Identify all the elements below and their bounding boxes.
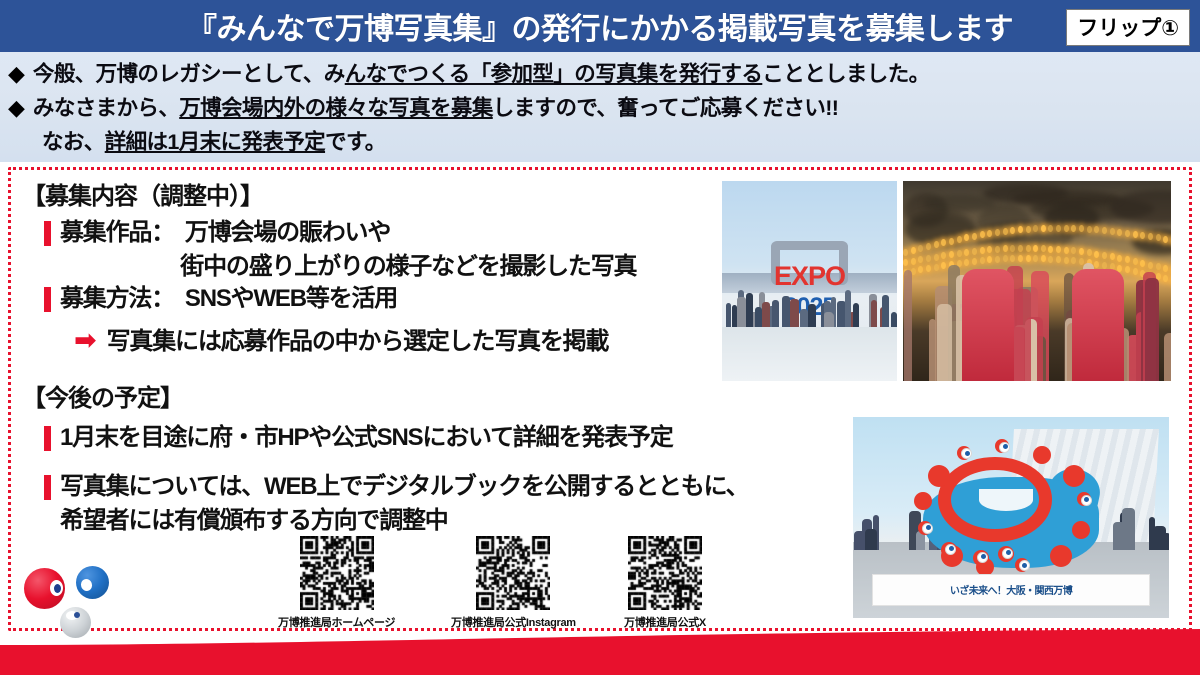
- seg: 今般、万博のレガシーとして、み: [33, 62, 345, 86]
- subtitle-line-3: なお、詳細は1月末に発表予定です。: [8, 126, 1188, 158]
- diamond-bullet-icon: ◆: [8, 58, 25, 89]
- recruit-item-works: 募集作品： 万博会場の賑わいや 街中の盛り上がりの様子などを撮影した写真: [44, 216, 636, 284]
- schedule-item-2-label: 写真集については、WEB上でデジタルブックを公開するとともに、 希望者には有償頒…: [60, 470, 748, 538]
- seg-underlined: んなでつくる「参加型」の写真集を発行する: [345, 62, 763, 86]
- diamond-bullet-icon: ◆: [8, 92, 25, 123]
- qr-block-homepage[interactable]: 万博推進局ホームページ: [278, 536, 395, 630]
- photo-ground: [722, 327, 897, 381]
- section-heading-recruit: 【募集内容（調整中）】: [22, 176, 263, 211]
- schedule-item-2: 写真集については、WEB上でデジタルブックを公開するとともに、 希望者には有償頒…: [44, 470, 748, 538]
- subtitle-line-1: ◆ 今般、万博のレガシーとして、みんなでつくる「参加型」の写真集を発行することと…: [8, 58, 1188, 90]
- subtitle-text-2: みなさまから、万博会場内外の様々な写真を募集しますので、奮ってご応募ください!!: [33, 92, 838, 124]
- qr-label-x: 万博推進局公式X: [624, 614, 706, 630]
- seg: みなさまから、: [33, 96, 179, 120]
- red-bar-marker-icon: [44, 426, 51, 451]
- seg: こととしました。: [762, 62, 929, 86]
- subtitle-text-1: 今般、万博のレガシーとして、みんなでつくる「参加型」の写真集を発行することとしま…: [33, 58, 930, 90]
- page-title: 『みんなで万博写真集』の発行にかかる掲載写真を募集します: [187, 4, 1013, 48]
- flip-badge: フリップ①: [1066, 9, 1190, 46]
- subtitle-band: ◆ 今般、万博のレガシーとして、みんなでつくる「参加型」の写真集を発行することと…: [0, 52, 1200, 162]
- red-bar-marker-icon: [44, 221, 51, 246]
- subtitle-line-2: ◆ みなさまから、万博会場内外の様々な写真を募集しますので、奮ってご応募ください…: [8, 92, 1188, 124]
- statue-red-ring: [938, 457, 1052, 541]
- recruit-arrow-note-label: 写真集には応募作品の中から選定した写真を掲載: [107, 325, 609, 359]
- schedule-item-1-label: 1月末を目途に府・市HPや公式SNSにおいて詳細を発表予定: [60, 421, 673, 455]
- qr-block-x[interactable]: 万博推進局公式X: [624, 536, 706, 630]
- qr-label-homepage: 万博推進局ホームページ: [278, 614, 395, 630]
- schedule-item-1: 1月末を目途に府・市HPや公式SNSにおいて詳細を発表予定: [44, 421, 673, 455]
- section-heading-schedule: 【今後の予定】: [22, 378, 183, 413]
- red-bar-marker-icon: [44, 475, 51, 500]
- qr-code-image[interactable]: [628, 536, 702, 610]
- seg: なお、: [42, 130, 105, 154]
- photo-festival-dusk: [903, 181, 1171, 381]
- statue-banner: いざ未来へ！大阪・関西万博: [872, 574, 1150, 606]
- red-band-shape: [0, 629, 1200, 675]
- photo-expo-word: EXPO: [748, 261, 871, 292]
- recruit-item-works-label: 募集作品： 万博会場の賑わいや 街中の盛り上がりの様子などを撮影した写真: [60, 216, 636, 284]
- red-bar-marker-icon: [44, 287, 51, 312]
- recruit-arrow-note: ➡ 写真集には応募作品の中から選定した写真を掲載: [74, 325, 608, 359]
- bottom-red-band: [0, 629, 1200, 675]
- recruit-item-method: 募集方法： SNSやWEB等を活用: [44, 282, 397, 316]
- seg-underlined: 万博会場内外の様々な写真を募集: [179, 96, 493, 120]
- right-arrow-icon: ➡: [74, 325, 97, 355]
- seg: です。: [325, 130, 386, 154]
- slide-header: 『みんなで万博写真集』の発行にかかる掲載写真を募集します フリップ①: [0, 0, 1200, 52]
- qr-label-instagram: 万博推進局公式Instagram: [451, 614, 576, 630]
- seg-underlined: 詳細は1月末に発表予定: [105, 130, 325, 154]
- blue-ball-icon: [76, 566, 109, 599]
- red-ball-icon: [24, 568, 65, 609]
- photo-crowd: [722, 289, 897, 329]
- qr-code-image[interactable]: [300, 536, 374, 610]
- photo-expo-monument: EXPO 2025: [722, 181, 897, 381]
- subtitle-text-3: なお、詳細は1月末に発表予定です。: [42, 126, 386, 158]
- recruit-item-method-label: 募集方法： SNSやWEB等を活用: [60, 282, 397, 316]
- qr-block-instagram[interactable]: 万博推進局公式Instagram: [451, 536, 576, 630]
- qr-code-image[interactable]: [476, 536, 550, 610]
- slide-root: 『みんなで万博写真集』の発行にかかる掲載写真を募集します フリップ① ◆ 今般、…: [0, 0, 1200, 675]
- statue-banner-label: いざ未来へ！大阪・関西万博: [950, 582, 1072, 597]
- seg: しますので、奮ってご応募ください!!: [493, 96, 839, 120]
- photo-myakumyaku-statue: いざ未来へ！大阪・関西万博: [851, 415, 1171, 620]
